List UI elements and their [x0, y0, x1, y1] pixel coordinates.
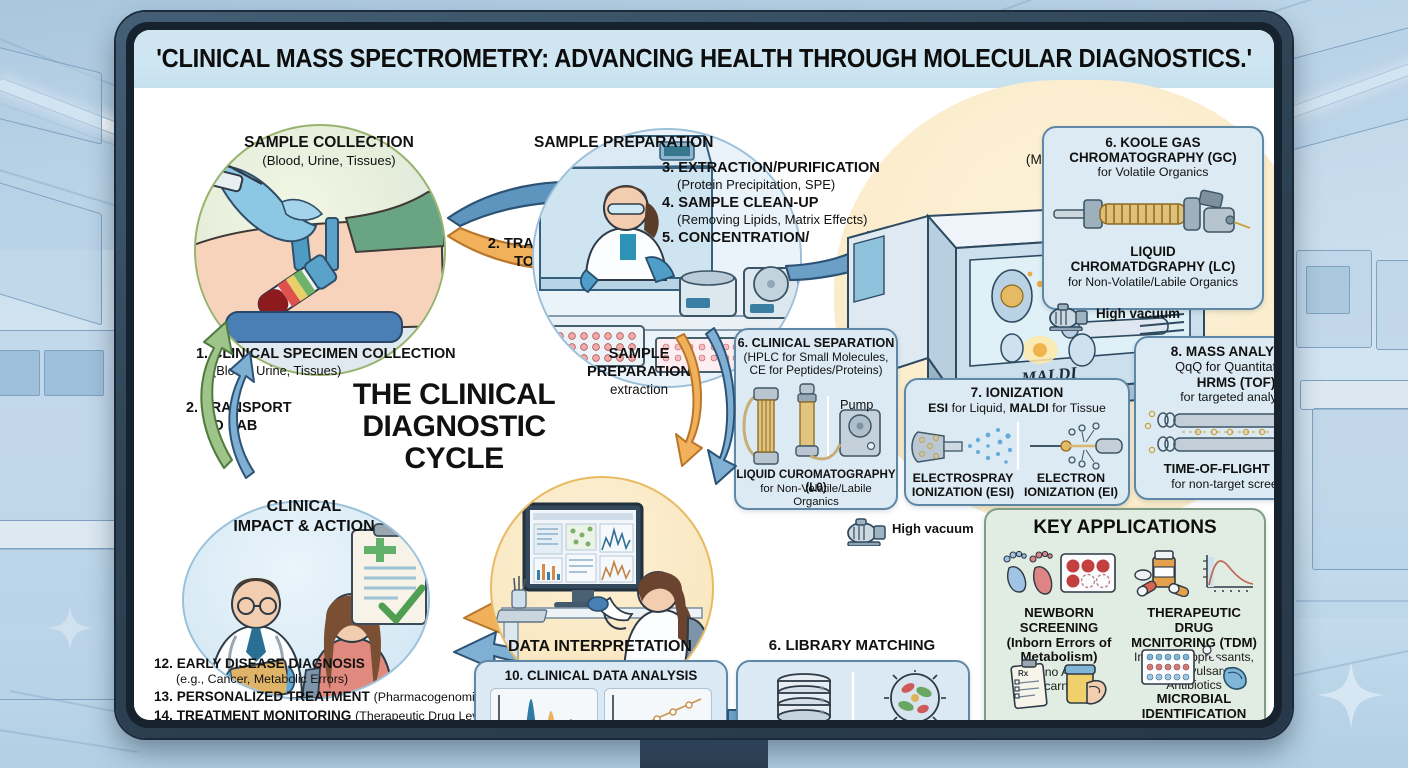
gc-head-line2: CHROMATOGRAPHY (GC): [1044, 150, 1262, 165]
key-applications-panel: KEY APPLICATIONS: [984, 508, 1266, 720]
tdm-head1: THERAPEUTIC DRUG: [1126, 606, 1262, 636]
clinical-impact-title-line1: CLINICAL: [182, 498, 426, 516]
microbial-id-art: [1126, 644, 1262, 692]
key-app-clinical-toxicology: Rx CLINICAL TOXICOLOGY Drug-of-Abuse Scr…: [990, 652, 1128, 720]
cycle-center-line3: CYCLE: [324, 442, 584, 476]
clinical-separation-head: 6. CLINICAL SEPARATION: [736, 336, 896, 350]
key-applications-title: KEY APPLICATIONS: [986, 517, 1264, 539]
esi-label-line1: ELECTROSPRAY: [910, 472, 1016, 486]
vacuum-pump-icon-right: [1046, 301, 1090, 331]
cycle-center-line1: THE CLINICAL: [324, 378, 584, 412]
impact-13-head: PERSONALIZED TREATMENT: [177, 689, 370, 704]
prep-step-3-head: 3. EXTRACTION/PURIFICATION: [662, 160, 992, 176]
toxicology-art: Rx: [990, 652, 1128, 718]
sparkle-icon: [1316, 660, 1386, 730]
cycle-center-line2: DIAGNOSTIC: [324, 410, 584, 444]
newborn-screening-art: [990, 540, 1128, 606]
clinical-separation-box: 6. CLINICAL SEPARATION (HPLC for Small M…: [734, 328, 898, 510]
sparkle-icon: [46, 604, 94, 652]
mass-analyzer-head: 8. MASS ANALYZER: [1136, 344, 1274, 359]
library-matching-box: CLINICAL BIOMARKER DATABASE MICROBIAL ID…: [736, 660, 970, 720]
vacuum-pump-icon-bottom: [844, 516, 888, 546]
mass-analyzer-box: 8. MASS ANALYZER QqQ for Quantitation, H…: [1134, 336, 1274, 500]
ionization-head: 7. IONIZATION: [906, 385, 1128, 400]
tof-foot-head: TIME-OF-FLIGHT (TOF): [1136, 462, 1274, 477]
gc-head-line1: 6. KOOLE GAS: [1044, 135, 1262, 150]
impact-14-num: 14.: [154, 708, 173, 720]
qualitative-chart-card: [490, 688, 598, 720]
data-interpretation-title: DATA INTERPRETATION: [486, 638, 714, 656]
mass-analyzer-line3: for targeted analysis: [1136, 391, 1274, 405]
lc-foot-line2: CHROMATDGRAPHY (LC): [1044, 259, 1262, 274]
impact-12-num: 12.: [154, 656, 173, 671]
mass-analyzer-line1: QqQ for Quantitation,: [1136, 360, 1274, 374]
lc-foot-line1: LIQUID: [1044, 244, 1262, 259]
ei-label-line2: IONIZATION (EI): [1018, 486, 1124, 500]
prep-step-3-sub: (Protein Precipitation, SPE): [677, 178, 1007, 193]
svg-text:Rx: Rx: [1018, 669, 1029, 678]
tdm-art: [1126, 540, 1262, 606]
sample-preparation-title: SAMPLE PREPARATION: [534, 134, 794, 151]
display-screen: 'CLINICAL MASS SPECTROMETRY: ADVANCING H…: [134, 30, 1274, 720]
arrow-cycle-right-blue: [706, 326, 756, 486]
ei-label-line1: ELECTRON: [1018, 472, 1124, 486]
gc-head-sub: for Volatile Organics: [1044, 166, 1262, 180]
infographic-canvas: SAMPLE COLLECTION (Blood, Urine, Tissues…: [134, 88, 1274, 720]
pump-label: Pump: [840, 398, 900, 412]
cycle-step1-sub: (Blood, Urine, Tissues): [212, 364, 512, 378]
sample-collection-title: SAMPLE COLLECTION: [214, 134, 444, 151]
lc-foot-sub: for Non-Volatile/Labile Organics: [1044, 276, 1262, 290]
microbial-id-head2: IDENTIFICATION: [1126, 707, 1262, 720]
impact-12-head: EARLY DISEASE DIAGNOSIS: [177, 656, 365, 671]
sample-collection-subtitle: (Blood, Urine, Tissues): [214, 154, 444, 169]
lc-sep-foot-sub: for Non-Velatile/Labile Organics: [736, 483, 896, 509]
newborn-screening-head1: NEWBORN SCREENING: [990, 606, 1128, 636]
arrow-cycle-left-blue: [212, 350, 256, 480]
clinical-separation-sub2: CE for Peptides/Proteins): [736, 364, 896, 377]
ionization-sub: ESI for Liquid, MALDI for Tissue: [906, 402, 1128, 416]
clinical-data-analysis-box: 10. CLINICAL DATA ANALYSIS: [474, 660, 728, 720]
ionization-box: 7. IONIZATION ESI for Liquid, MALDI for …: [904, 378, 1130, 506]
library-matching-head: 6. LIBRARY MATCHING: [738, 638, 966, 655]
monitor-stand: [640, 735, 768, 768]
clinical-impact-title-line2: IMPACT & ACTION: [182, 518, 426, 536]
mass-analyzer-line2: HRMS (TOF): [1136, 375, 1274, 390]
display-bezel: 'CLINICAL MASS SPECTROMETRY: ADVANCING H…: [116, 12, 1292, 738]
esi-label-line2: IONIZATION (ESI): [910, 486, 1016, 500]
quantitative-chart-card: [604, 688, 712, 720]
microbial-id-head1: MICROBIAL: [1126, 692, 1262, 707]
impact-13-num: 13.: [154, 689, 173, 704]
key-app-microbial-identification: MICROBIAL IDENTIFICATION Rapid Bacteria/…: [1126, 644, 1262, 720]
toxicology-head1: CLINICAL TOXICOLOGY: [990, 718, 1128, 720]
gc-lc-box: 6. KOOLE GAS CHROMATOGRAPHY (GC) for Vol…: [1042, 126, 1264, 310]
page-title: 'CLINICAL MASS SPECTROMETRY: ADVANCING H…: [156, 45, 1252, 74]
clinical-data-analysis-head: 10. CLINICAL DATA ANALYSIS: [476, 668, 726, 683]
tof-foot-sub: for non-target screening: [1136, 478, 1274, 492]
impact-14-head: TREATMENT MONITORING: [177, 708, 352, 720]
high-vacuum-label-right: High vacuum: [1096, 306, 1216, 321]
screenshot-root: 'CLINICAL MASS SPECTROMETRY: ADVANCING H…: [0, 0, 1408, 768]
